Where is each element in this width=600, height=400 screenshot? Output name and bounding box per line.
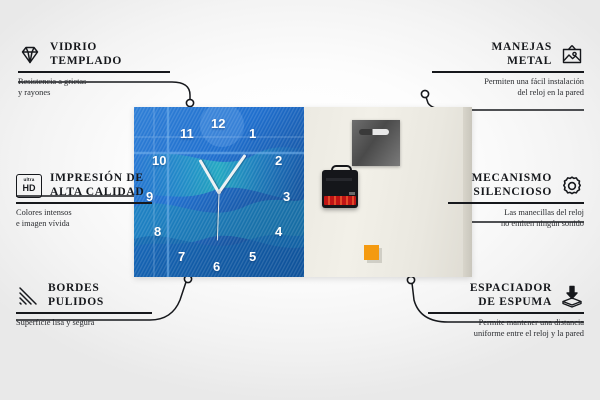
metal-hanger-plate (352, 120, 400, 166)
callout-bordes-pulidos: BORDES PULIDOS Superficie lisa y segura (16, 282, 152, 328)
clock-numeral: 10 (152, 154, 166, 167)
mechanism-ridge (326, 178, 352, 181)
callout-rule (16, 202, 152, 203)
callout-title: BORDES PULIDOS (48, 282, 104, 309)
clock-numeral: 5 (249, 250, 256, 263)
callout-title: VIDRIO TEMPLADO (50, 41, 122, 68)
callout-description: Permite mantener una distancia uniforme … (428, 317, 584, 339)
infographic-stage: 12 1 2 3 4 5 6 7 8 9 10 11 (0, 0, 600, 400)
callout-rule (16, 312, 152, 313)
callout-description: Resistencia a grietas y rayones (18, 76, 170, 98)
hanger-slot (359, 129, 389, 135)
diamond-icon (18, 43, 42, 67)
callout-description: Las manecillas del reloj no emiten ningú… (448, 207, 584, 229)
polished-edges-icon (16, 284, 40, 308)
clock-numeral: 11 (180, 127, 194, 140)
product-photo: 12 1 2 3 4 5 6 7 8 9 10 11 (134, 107, 472, 277)
clock-numeral: 2 (275, 154, 282, 167)
ultra-hd-main-text: HD (23, 184, 36, 193)
callout-header: MANEJAS METAL (432, 41, 584, 68)
mechanism-marking (349, 192, 355, 195)
callout-header: VIDRIO TEMPLADO (18, 41, 170, 68)
ultra-hd-badge-icon: ultra HD (16, 174, 42, 198)
clock-numeral: 1 (249, 127, 256, 140)
clock-numeral: 12 (211, 117, 225, 130)
orange-foam-spacer (364, 245, 379, 260)
callout-header: BORDES PULIDOS (16, 282, 152, 309)
mechanism-label (324, 196, 356, 205)
clock-numeral: 8 (154, 225, 161, 238)
silent-quartz-mechanism (322, 170, 358, 208)
callout-mecanismo-silencioso: MECANISMO SILENCIOSO Las manecillas del … (448, 172, 584, 229)
callout-header: ESPACIADOR DE ESPUMA (428, 282, 584, 309)
callout-description: Superficie lisa y segura (16, 317, 152, 328)
callout-impresion-alta-calidad: ultra HD IMPRESIÓN DE ALTA CALIDAD Color… (16, 172, 152, 229)
callout-header: ultra HD IMPRESIÓN DE ALTA CALIDAD (16, 172, 152, 199)
callout-title: MANEJAS METAL (492, 41, 553, 68)
clock-numeral: 6 (213, 260, 220, 273)
hands-center-cap (217, 190, 221, 194)
callout-description: Permiten una fácil instalación del reloj… (432, 76, 584, 98)
mechanism-loop (331, 165, 352, 174)
callout-title: MECANISMO SILENCIOSO (472, 172, 552, 199)
callout-rule (18, 71, 170, 72)
callout-title: IMPRESIÓN DE ALTA CALIDAD (50, 172, 144, 199)
clock-numeral: 7 (178, 250, 185, 263)
wall-hanger-frame-icon (560, 43, 584, 67)
callout-title: ESPACIADOR DE ESPUMA (470, 282, 552, 309)
clock-numeral: 3 (283, 190, 290, 203)
foam-spacer-arrow-icon (560, 284, 584, 308)
callout-vidrio-templado: VIDRIO TEMPLADO Resistencia a grietas y … (18, 41, 170, 98)
callout-description: Colores intensos e imagen vívida (16, 207, 152, 229)
callout-rule (428, 312, 584, 313)
clock-front-view: 12 1 2 3 4 5 6 7 8 9 10 11 (134, 107, 304, 277)
callout-header: MECANISMO SILENCIOSO (448, 172, 584, 199)
clock-back-view (304, 107, 472, 277)
clock-numeral: 4 (275, 225, 282, 238)
gear-icon (560, 174, 584, 198)
callout-rule (448, 202, 584, 203)
callout-rule (432, 71, 584, 72)
callout-manejas-metal: MANEJAS METAL Permiten una fácil instala… (432, 41, 584, 98)
callout-espaciador-espuma: ESPACIADOR DE ESPUMA Permite mantener un… (428, 282, 584, 339)
